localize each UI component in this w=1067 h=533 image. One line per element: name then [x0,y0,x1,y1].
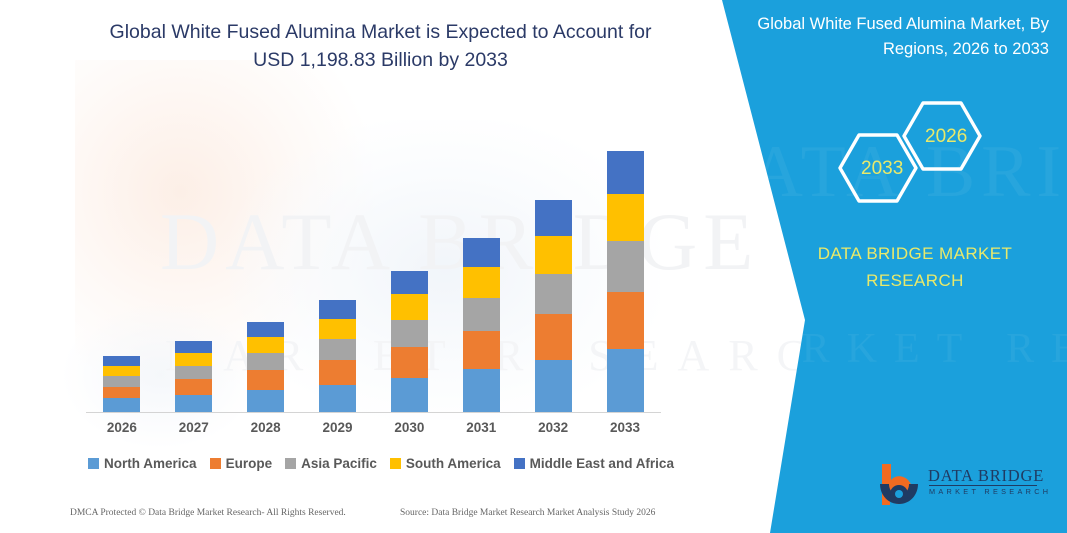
logo-name-sub: MARKET RESEARCH [929,487,1051,496]
bar-segment [247,322,284,337]
bar-segment [463,331,500,369]
bar-segment [175,395,212,412]
footer-source: Source: Data Bridge Market Research Mark… [400,508,655,518]
brand-name-line2: RESEARCH [866,271,964,290]
bar-column [518,95,589,412]
legend-swatch-icon [514,458,525,469]
bar-segment [607,349,644,412]
bar-segment [535,360,572,412]
bar-segment [175,353,212,366]
data-bridge-logo: DATA BRIDGE MARKET RESEARCH [878,462,1058,510]
bar-segment [607,292,644,349]
bar-column [86,95,157,412]
hexagon-2033-label: 2033 [861,158,903,180]
chart-legend: North AmericaEuropeAsia PacificSouth Ame… [86,456,676,471]
bar-segment [175,379,212,394]
legend-item[interactable]: South America [390,456,501,471]
panel-watermark-secondary: MARKET RESEARCH [700,325,1067,373]
panel-title: Global White Fused Alumina Market, By Re… [749,12,1049,62]
bar-segment [535,314,572,360]
legend-item[interactable]: Asia Pacific [285,456,377,471]
chart-x-axis-line [86,412,661,413]
bar-stack-2032 [535,200,572,412]
bar-segment [247,390,284,412]
bar-segment [247,353,284,370]
legend-label: South America [406,456,501,471]
hexagon-2026-label: 2026 [925,126,967,148]
bar-segment [535,200,572,235]
x-axis-label: 2031 [446,420,517,435]
bar-column [230,95,301,412]
bar-segment [391,294,428,319]
logo-name-main: DATA BRIDGE [928,466,1044,486]
bar-segment [535,236,572,274]
bar-segment [463,369,500,412]
page-title: Global White Fused Alumina Market is Exp… [88,18,673,74]
bar-stack-2028 [247,322,284,412]
bar-segment [391,347,428,378]
legend-item[interactable]: Middle East and Africa [514,456,674,471]
bar-segment [535,274,572,315]
bar-stack-2031 [463,238,500,412]
legend-swatch-icon [285,458,296,469]
bar-segment [247,370,284,390]
bar-segment [463,238,500,267]
legend-label: Middle East and Africa [530,456,674,471]
bar-column [374,95,445,412]
bar-stack-2027 [175,341,212,412]
bar-segment [319,385,356,412]
bar-segment [391,271,428,295]
bar-column [590,95,661,412]
bar-segment [175,366,212,380]
x-axis-label: 2028 [230,420,301,435]
legend-swatch-icon [210,458,221,469]
logo-divider [929,485,1037,486]
bar-stack-2029 [319,300,356,412]
bar-segment [607,194,644,241]
bar-segment [391,378,428,412]
legend-swatch-icon [390,458,401,469]
brand-name-line1: DATA BRIDGE MARKET [818,244,1013,263]
bar-segment [247,337,284,353]
x-axis-label: 2032 [518,420,589,435]
bar-segment [319,339,356,361]
bar-segment [103,356,140,366]
legend-swatch-icon [88,458,99,469]
bar-segment [103,387,140,399]
legend-label: Asia Pacific [301,456,377,471]
bar-column [302,95,373,412]
legend-item[interactable]: Europe [210,456,273,471]
bar-segment [319,319,356,339]
bar-segment [463,298,500,331]
bar-segment [319,360,356,384]
bar-column [158,95,229,412]
bar-segment [463,267,500,298]
x-axis-label: 2029 [302,420,373,435]
chart-x-axis-labels: 20262027202820292030203120322033 [86,420,661,435]
bar-segment [607,151,644,194]
bar-segment [319,300,356,319]
legend-item[interactable]: North America [88,456,197,471]
stacked-bar-chart [86,95,661,412]
bar-segment [391,320,428,347]
x-axis-label: 2030 [374,420,445,435]
infographic-canvas: DATA BRIDGE MARKET RESEARCH Global White… [0,0,1067,533]
bar-segment [175,341,212,354]
bar-stack-2033 [607,151,644,413]
hexagon-group: 2026 2033 [828,95,988,210]
x-axis-label: 2026 [86,420,157,435]
x-axis-label: 2033 [590,420,661,435]
bar-column [446,95,517,412]
bar-segment [103,376,140,387]
logo-mark-icon [878,462,926,508]
bar-stack-2030 [391,271,428,412]
bar-segment [607,241,644,292]
footer-copyright: DMCA Protected © Data Bridge Market Rese… [70,508,346,518]
bar-stack-2026 [103,356,140,412]
legend-label: North America [104,456,197,471]
legend-label: Europe [226,456,273,471]
brand-name: DATA BRIDGE MARKET RESEARCH [790,240,1040,294]
x-axis-label: 2027 [158,420,229,435]
bar-segment [103,398,140,412]
bar-segment [103,366,140,376]
